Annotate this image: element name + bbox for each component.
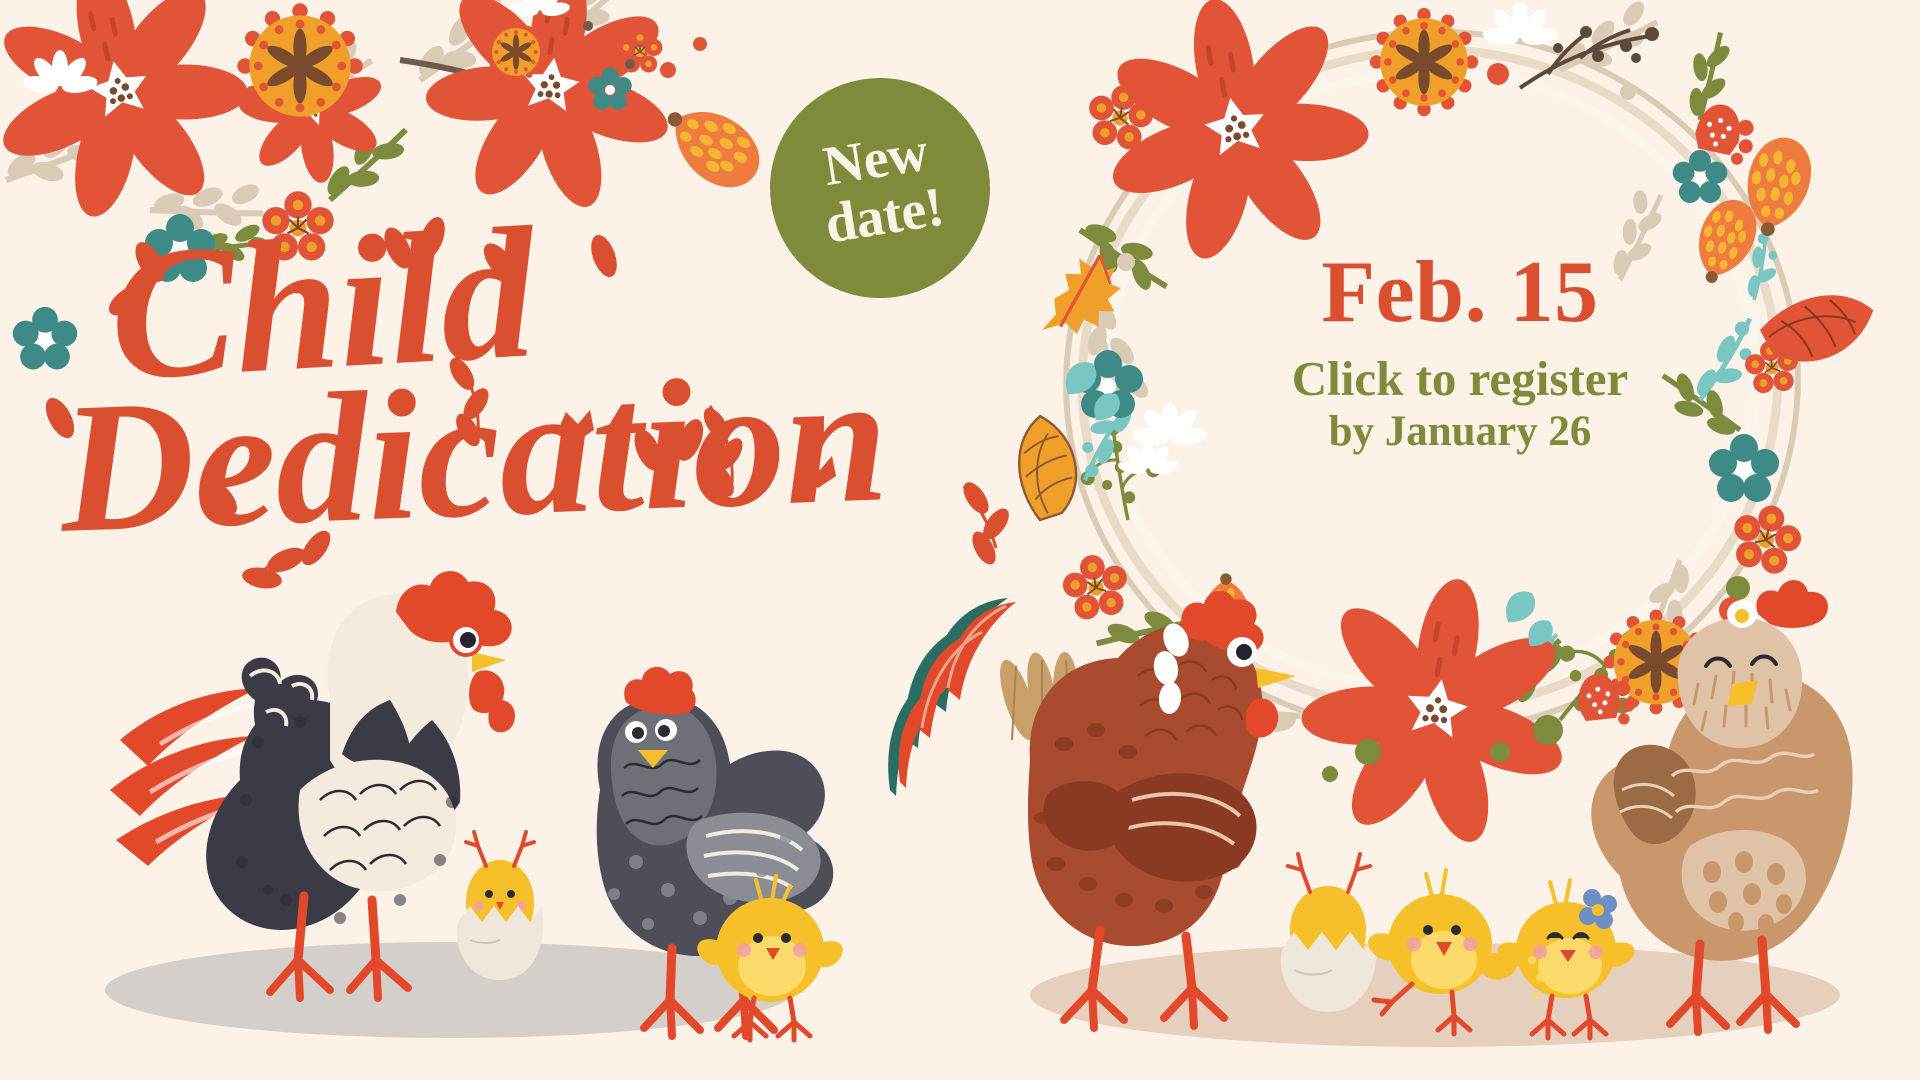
promotional-banner: Child Dedication — [0, 0, 1920, 1080]
register-cta-line-1[interactable]: Click to register — [1250, 352, 1670, 407]
register-deadline-line: by January 26 — [1250, 407, 1670, 456]
event-date: Feb. 15 — [1250, 248, 1670, 338]
floral-corner-top-left — [0, 0, 773, 369]
illustration-rooster-black — [110, 571, 515, 998]
illustration-chick-in-eggshell-left — [457, 832, 543, 980]
illustration-chick-in-eggshell-right — [1281, 854, 1377, 1012]
event-info-block: Feb. 15 Click to register by January 26 — [1250, 248, 1670, 456]
